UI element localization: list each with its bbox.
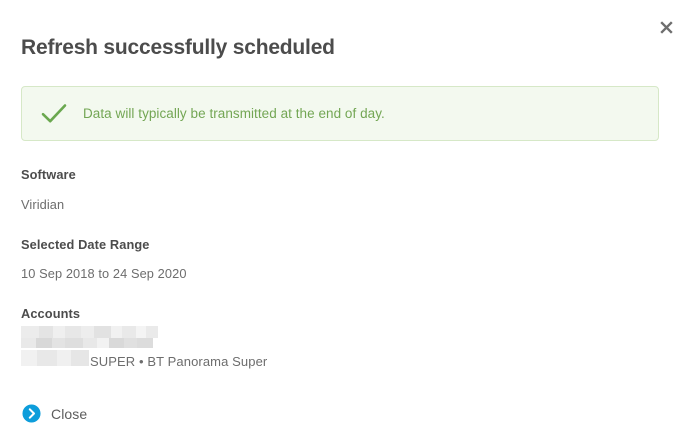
date-range-label: Selected Date Range [21,237,150,252]
success-alert: Data will typically be transmitted at th… [21,86,659,141]
dialog-title: Refresh successfully scheduled [21,36,335,60]
check-mark-icon [40,102,68,126]
account-name-suffix: SUPER • BT Panorama Super [90,354,267,369]
close-button-label: Close [51,406,87,422]
refresh-scheduled-dialog: Refresh successfully scheduled Data will… [0,0,691,437]
date-range-value: 10 Sep 2018 to 24 Sep 2020 [21,266,187,281]
success-alert-message: Data will typically be transmitted at th… [83,106,385,121]
close-button[interactable]: Close [22,404,87,423]
software-value: Viridian [21,197,64,212]
close-x-icon[interactable] [652,14,680,40]
arrow-right-circle-icon [22,404,41,423]
redacted-bar [21,350,89,366]
redacted-bar [21,326,158,338]
software-label: Software [21,167,76,182]
accounts-label: Accounts [21,306,80,321]
redacted-bar [21,338,153,348]
